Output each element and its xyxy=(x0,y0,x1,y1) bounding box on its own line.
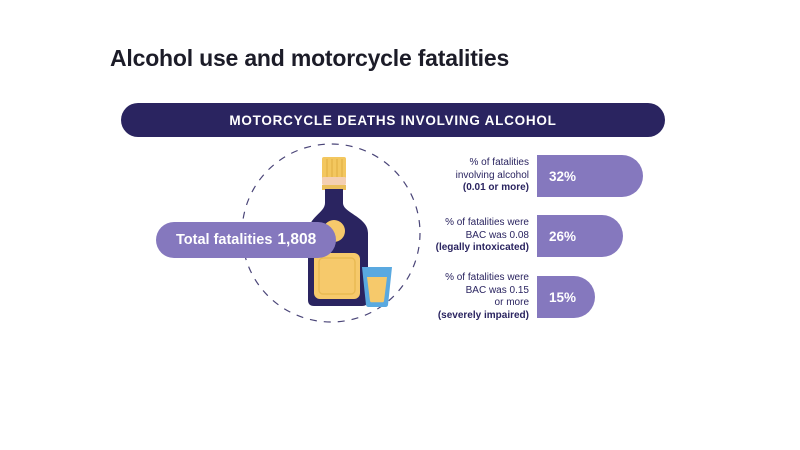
bar-label-line: (legally intoxicated) xyxy=(404,242,529,255)
bar-value: 26% xyxy=(549,229,576,244)
bar-row: % of fatalities were BAC was 0.15 or mor… xyxy=(404,272,595,322)
bar-row: % of fatalities involving alcohol (0.01 … xyxy=(404,155,643,197)
total-fatalities-value: 1,808 xyxy=(277,231,316,249)
bar-label-line: % of fatalities were xyxy=(404,217,529,230)
bar-label: % of fatalities were BAC was 0.15 or mor… xyxy=(404,272,529,322)
section-banner: MOTORCYCLE DEATHS INVOLVING ALCOHOL xyxy=(121,103,665,137)
bar-label-line: (severely impaired) xyxy=(404,310,529,323)
bar-label-line: involving alcohol xyxy=(404,170,529,183)
bar-fill: 26% xyxy=(537,215,623,257)
bar-label-line: BAC was 0.08 xyxy=(404,230,529,243)
bar-label-line: (0.01 or more) xyxy=(404,182,529,195)
total-fatalities-label: Total fatalities xyxy=(176,232,272,248)
bar-label-line: % of fatalities were xyxy=(404,272,529,285)
bar-label: % of fatalities involving alcohol (0.01 … xyxy=(404,157,529,195)
bar-value: 32% xyxy=(549,169,576,184)
page-title: Alcohol use and motorcycle fatalities xyxy=(110,45,509,72)
bar-label-line: or more xyxy=(404,297,529,310)
total-fatalities-pill: Total fatalities 1,808 xyxy=(156,222,336,258)
bar-label-line: % of fatalities xyxy=(404,157,529,170)
bar-label-line: BAC was 0.15 xyxy=(404,285,529,298)
infographic-canvas: Alcohol use and motorcycle fatalities MO… xyxy=(0,0,800,450)
bar-label: % of fatalities were BAC was 0.08 (legal… xyxy=(404,217,529,255)
bar-value: 15% xyxy=(549,290,576,305)
bar-fill: 15% xyxy=(537,276,595,318)
bar-fill: 32% xyxy=(537,155,643,197)
bar-row: % of fatalities were BAC was 0.08 (legal… xyxy=(404,215,623,257)
section-banner-text: MOTORCYCLE DEATHS INVOLVING ALCOHOL xyxy=(229,113,556,128)
